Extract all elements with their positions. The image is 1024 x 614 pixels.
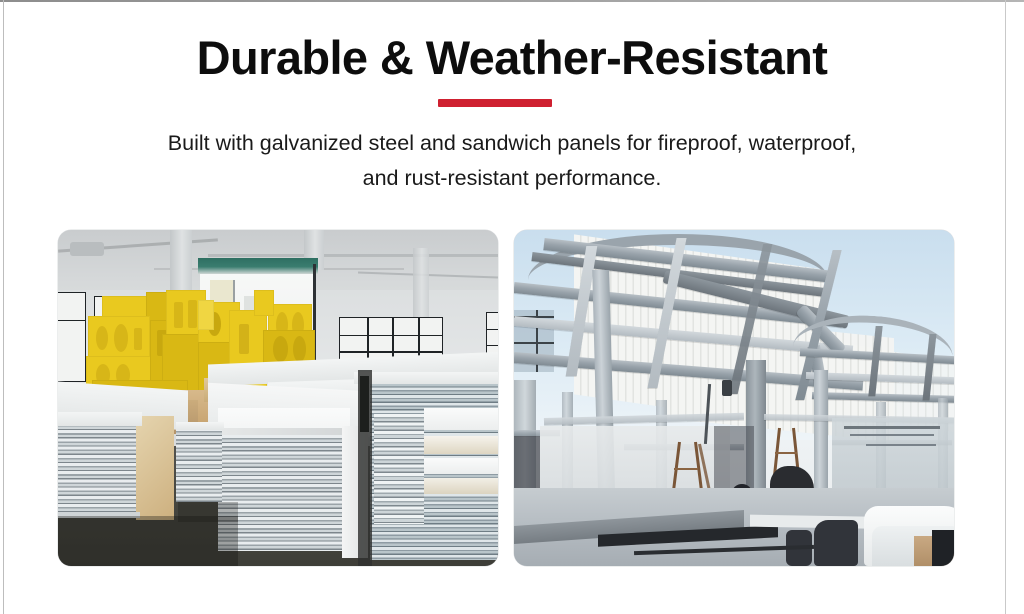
interior-rail-detail [844, 426, 940, 429]
interior-rail-detail [850, 434, 934, 436]
foam-cutout [114, 324, 128, 352]
image-gallery [58, 230, 954, 566]
page-subtitle: Built with galvanized steel and sandwich… [162, 126, 862, 196]
panel-face [424, 436, 498, 454]
floor-shadow [58, 516, 238, 566]
panel-stack-edges [58, 422, 140, 514]
glass-mullion [514, 342, 554, 344]
ceiling-duct [70, 242, 104, 256]
frame-right-border [1005, 0, 1006, 614]
floor-shadow [178, 502, 238, 522]
foam-cutout [273, 336, 288, 362]
frame-left-border [3, 0, 4, 614]
rolling-door-header [198, 258, 318, 274]
panel-stack-top [354, 372, 498, 384]
panel-face [424, 408, 498, 430]
frame-top-border [0, 0, 1024, 2]
panel-stack-side [136, 416, 174, 520]
ceiling-beam [208, 254, 498, 257]
title-divider [438, 99, 552, 107]
mounted-fixture [722, 380, 732, 396]
warehouse-scene [58, 230, 498, 566]
foam-cutout [134, 328, 142, 350]
panel-stack-top [58, 412, 142, 426]
interior-rail-detail [866, 444, 936, 446]
panel-stack-top [176, 422, 224, 430]
slide-page: Durable & Weather-Resistant Built with g… [0, 0, 1024, 614]
steel-frame-scene [514, 230, 954, 566]
gallery-image-warehouse-sandwich-panels[interactable] [58, 230, 498, 566]
panel-stack-edges [176, 428, 222, 502]
stack-shadow-gap [360, 376, 369, 432]
foam-cutout [96, 326, 108, 350]
ladder-rung [775, 452, 797, 454]
foam-block [198, 300, 214, 330]
page-title: Durable & Weather-Resistant [0, 30, 1024, 86]
panel-face [424, 458, 498, 474]
foam-cutout [239, 324, 249, 354]
ladder-rung [674, 468, 698, 470]
panel-face [424, 478, 498, 494]
foam-cutout [174, 302, 183, 328]
panel-stack-edges [374, 414, 424, 524]
foam-block [254, 290, 274, 316]
gallery-image-steel-frame-construction[interactable] [514, 230, 954, 566]
window-left-lower [58, 320, 86, 382]
foam-cutout [293, 336, 306, 362]
foam-block [88, 316, 150, 360]
equipment-dark [932, 530, 954, 566]
equipment-dark [814, 520, 858, 566]
foam-cutout [188, 300, 197, 328]
